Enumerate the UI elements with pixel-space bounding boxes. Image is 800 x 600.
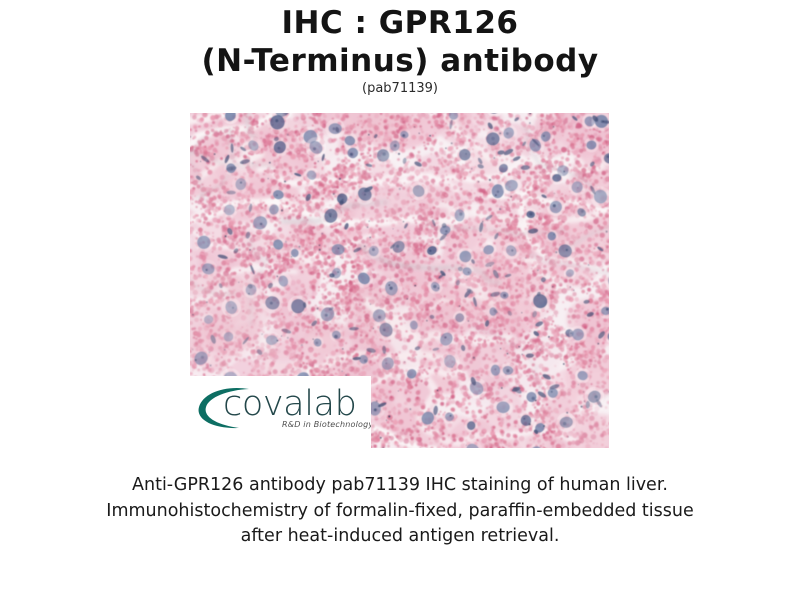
- figure-page: IHC : GPR126 (N-Terminus) antibody (pab7…: [0, 0, 800, 600]
- figure-title-block: IHC : GPR126 (N-Terminus) antibody (pab7…: [0, 4, 800, 97]
- covalab-logo-watermark: covalab R&D in Biotechnology: [190, 376, 371, 448]
- covalab-wordmark: covalab: [223, 384, 356, 424]
- catalog-number: (pab71139): [0, 81, 800, 97]
- micrograph-panel: covalab R&D in Biotechnology: [190, 113, 609, 448]
- covalab-tagline: R&D in Biotechnology: [282, 420, 371, 430]
- page-title: IHC : GPR126: [0, 4, 800, 42]
- page-subtitle: (N-Terminus) antibody: [0, 42, 800, 80]
- logo-inner: covalab R&D in Biotechnology: [190, 376, 371, 448]
- figure-caption: Anti-GPR126 antibody pab71139 IHC staini…: [100, 473, 700, 550]
